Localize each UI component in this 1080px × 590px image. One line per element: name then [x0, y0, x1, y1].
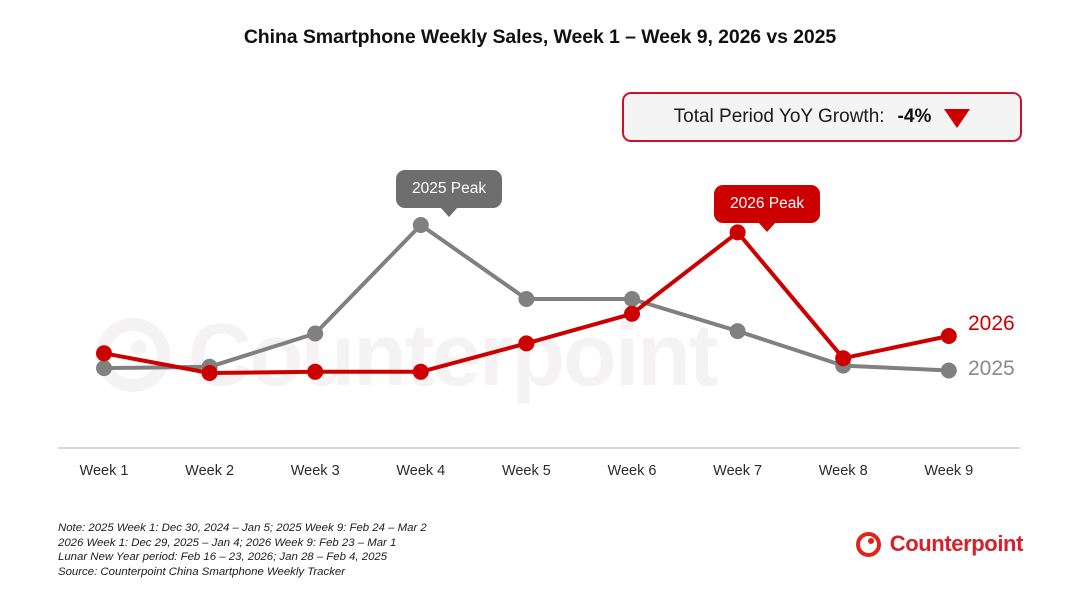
x-tick-label-week-1: Week 1: [44, 463, 164, 479]
data-point-2026-week-1: [96, 345, 112, 361]
x-tick-label-week-2: Week 2: [150, 463, 270, 479]
data-point-2025-week-9: [941, 363, 957, 379]
data-point-2026-week-4: [413, 364, 429, 380]
x-tick-label-week-9: Week 9: [889, 463, 1009, 479]
footnotes: Note: 2025 Week 1: Dec 30, 2024 – Jan 5;…: [58, 521, 427, 579]
data-point-2026-week-9: [941, 328, 957, 344]
data-point-2025-week-5: [518, 291, 534, 307]
callout-2025-peak: 2025 Peak: [396, 170, 502, 208]
data-point-2026-week-6: [624, 306, 640, 322]
data-point-2026-week-7: [730, 224, 746, 240]
callout-2026-peak: 2026 Peak: [714, 185, 820, 223]
data-point-2026-week-8: [835, 350, 851, 366]
data-point-2025-week-7: [730, 323, 746, 339]
x-tick-label-week-7: Week 7: [678, 463, 798, 479]
data-point-2026-week-2: [202, 365, 218, 381]
series-label-2025: 2025: [968, 357, 1015, 381]
counterpoint-logo-icon: [856, 532, 881, 557]
data-point-2025-week-6: [624, 291, 640, 307]
data-point-2025-week-4: [413, 217, 429, 233]
counterpoint-logo: Counterpoint: [856, 531, 1023, 557]
line-chart-plot: [0, 0, 1080, 590]
x-tick-label-week-8: Week 8: [783, 463, 903, 479]
x-tick-label-week-6: Week 6: [572, 463, 692, 479]
data-point-2025-week-1: [96, 360, 112, 376]
data-point-2026-week-3: [307, 364, 323, 380]
x-tick-label-week-4: Week 4: [361, 463, 481, 479]
footnote-line-2: 2026 Week 1: Dec 29, 2025 – Jan 4; 2026 …: [58, 536, 427, 551]
x-tick-label-week-3: Week 3: [255, 463, 375, 479]
data-point-2026-week-5: [518, 335, 534, 351]
footnote-line-1: Note: 2025 Week 1: Dec 30, 2024 – Jan 5;…: [58, 521, 427, 536]
series-2025-markers: [96, 217, 957, 379]
counterpoint-logo-text: Counterpoint: [890, 531, 1023, 557]
series-2025: [96, 217, 957, 379]
series-label-2026: 2026: [968, 312, 1015, 336]
data-point-2025-week-3: [307, 326, 323, 342]
footnote-line-4: Source: Counterpoint China Smartphone We…: [58, 565, 427, 580]
chart-page: China Smartphone Weekly Sales, Week 1 – …: [0, 0, 1080, 590]
footnote-line-3: Lunar New Year period: Feb 16 – 23, 2026…: [58, 550, 427, 565]
x-tick-label-week-5: Week 5: [466, 463, 586, 479]
callout-2026-peak-label: 2026 Peak: [730, 195, 804, 213]
callout-2025-peak-label: 2025 Peak: [412, 180, 486, 198]
